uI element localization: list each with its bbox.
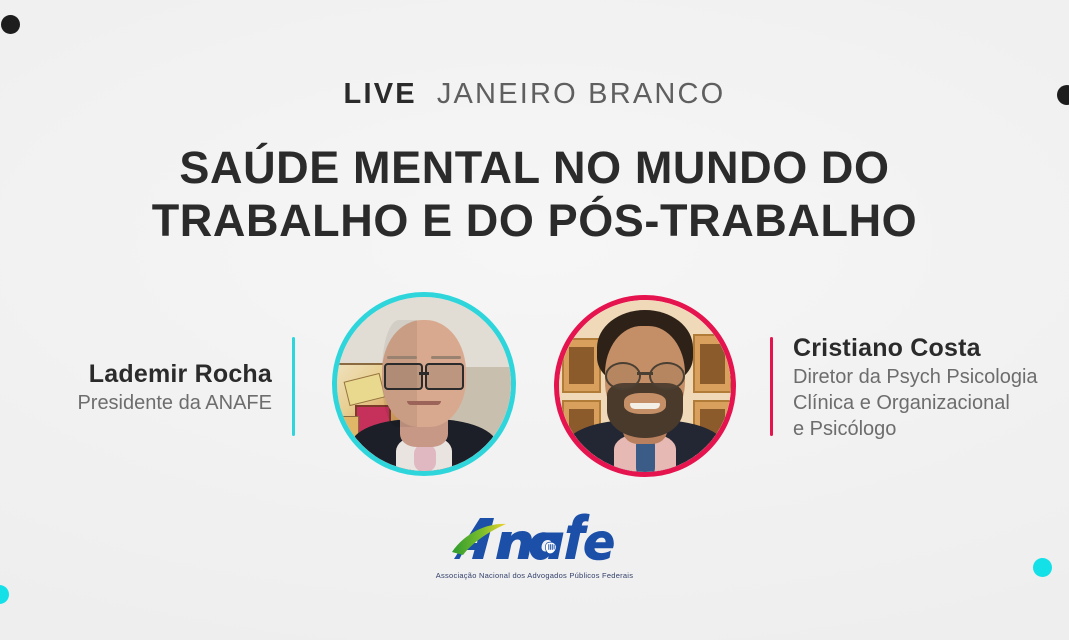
- avatar: [337, 297, 511, 471]
- campaign-label: JANEIRO BRANCO: [437, 78, 726, 110]
- anafe-logo-icon: [450, 512, 620, 564]
- avatar: [559, 300, 731, 472]
- speaker-photo-lademir-rocha: [332, 292, 516, 476]
- dot-bottom-left-icon: [0, 585, 9, 604]
- speaker-role-line: e Psicólogo: [793, 416, 1038, 442]
- anafe-logo: Associação Nacional dos Advogados Públic…: [0, 512, 1069, 580]
- speaker-role-line: Clínica e Organizacional: [793, 390, 1038, 416]
- speaker-name: Lademir Rocha: [77, 359, 272, 390]
- anafe-logo-tagline: Associação Nacional dos Advogados Públic…: [0, 571, 1069, 580]
- speaker-info-lademir-rocha: Lademir Rocha Presidente da ANAFE: [77, 359, 272, 416]
- speaker-photo-cristiano-costa: [554, 295, 736, 477]
- speaker-role: Diretor da Psych Psicologia Clínica e Or…: [793, 364, 1038, 442]
- divider-right: [770, 337, 773, 436]
- live-badge-label: LIVE: [344, 78, 417, 110]
- divider-left: [292, 337, 295, 436]
- speaker-name: Cristiano Costa: [793, 333, 1038, 364]
- presentation-slide: LIVEJANEIRO BRANCO SAÚDE MENTAL NO MUNDO…: [0, 0, 1069, 640]
- page-title: SAÚDE MENTAL NO MUNDO DO TRABALHO E DO P…: [0, 141, 1069, 247]
- title-line-1: SAÚDE MENTAL NO MUNDO DO: [179, 142, 889, 193]
- eyeglasses-icon: [605, 362, 684, 386]
- eyebrow: LIVEJANEIRO BRANCO: [0, 78, 1069, 111]
- speaker-role: Presidente da ANAFE: [77, 390, 272, 416]
- dot-top-left-icon: [1, 15, 20, 34]
- title-line-2: TRABALHO E DO PÓS-TRABALHO: [0, 194, 1069, 247]
- speaker-role-line: Diretor da Psych Psicologia: [793, 364, 1038, 390]
- eyeglasses-icon: [384, 363, 464, 386]
- speaker-info-cristiano-costa: Cristiano Costa Diretor da Psych Psicolo…: [793, 333, 1038, 442]
- speaker-role-line: Presidente da ANAFE: [77, 390, 272, 416]
